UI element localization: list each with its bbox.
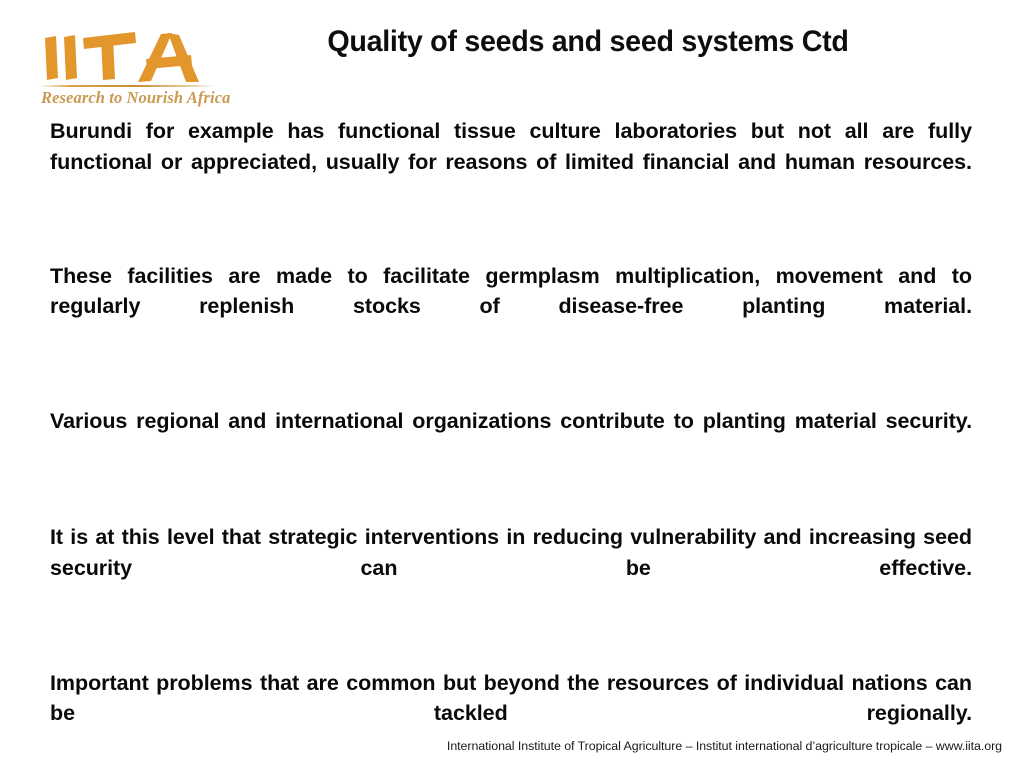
iita-logo: Research to Nourish Africa <box>33 28 218 112</box>
body-paragraph: Various regional and international organ… <box>50 406 972 467</box>
logo-divider-rule <box>39 85 215 87</box>
paragraph-spacer <box>50 208 972 261</box>
slide-footer: International Institute of Tropical Agri… <box>0 738 1002 754</box>
slide-title: Quality of seeds and seed systems Ctd <box>248 24 928 60</box>
presentation-slide: Research to Nourish Africa Quality of se… <box>0 0 1024 768</box>
slide-body: Burundi for example has functional tissu… <box>50 116 972 759</box>
body-paragraph: These facilities are made to facilitate … <box>50 261 972 353</box>
body-paragraph: It is at this level that strategic inter… <box>50 522 972 614</box>
paragraph-spacer <box>50 614 972 668</box>
paragraph-spacer <box>50 352 972 406</box>
body-paragraph: Burundi for example has functional tissu… <box>50 116 972 208</box>
iita-wordmark-icon <box>39 28 211 86</box>
logo-tagline: Research to Nourish Africa <box>41 88 221 108</box>
paragraph-spacer <box>50 467 972 522</box>
